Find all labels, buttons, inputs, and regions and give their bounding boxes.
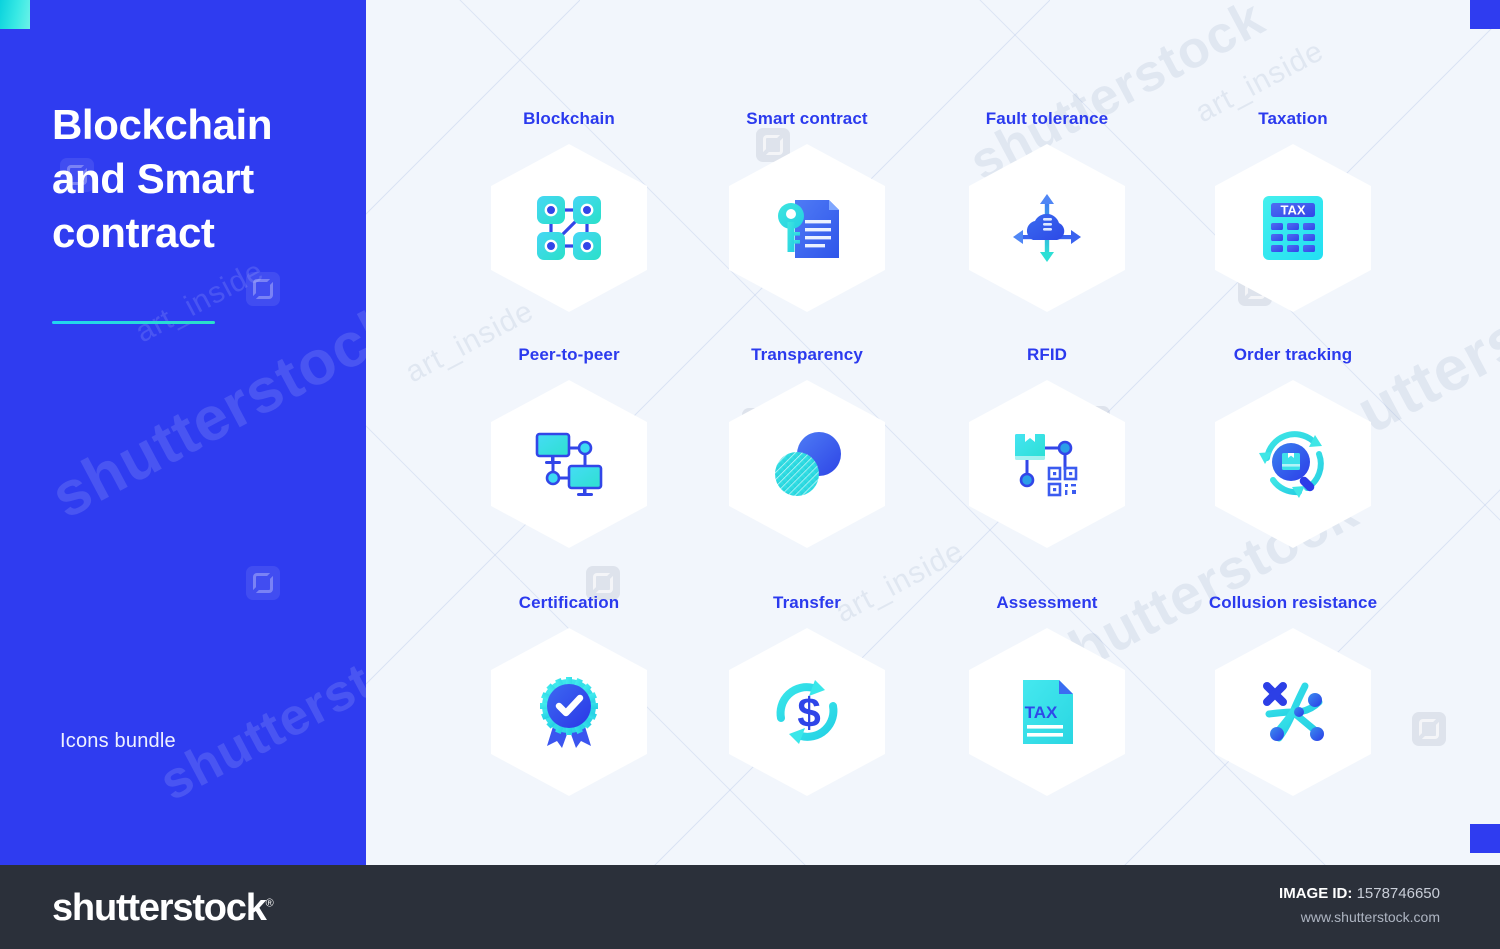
footer-bar: shutterstock® IMAGE ID: 1578746650 www.s…	[0, 865, 1500, 949]
svg-text:TAX: TAX	[1280, 203, 1305, 218]
hexagon-tile	[491, 628, 647, 796]
svg-text:$: $	[797, 689, 820, 736]
crossed-nodes-icon	[1253, 672, 1333, 752]
watermark-brand-text: shutterstock	[150, 608, 366, 813]
magnifier-box-cycle-icon	[1253, 424, 1333, 504]
watermark-logo-square	[246, 566, 280, 600]
hexagon-tile	[729, 380, 885, 548]
icon-label: Blockchain	[454, 108, 684, 130]
icon-card-transparency[interactable]: Transparency	[692, 344, 922, 548]
svg-text:TAX: TAX	[1025, 703, 1058, 722]
shutterstock-logo-text: shutterstock	[52, 887, 266, 929]
icon-label: Smart contract	[692, 108, 922, 130]
hexagon-tile	[729, 144, 885, 312]
image-id: IMAGE ID: 1578746650	[1279, 885, 1440, 902]
cloud-arrows-icon	[1007, 188, 1087, 268]
two-monitors-network-icon	[529, 424, 609, 504]
overlapping-circles-icon	[767, 424, 847, 504]
title-panel: shutterstock shutterstock art_inside Blo…	[0, 0, 366, 865]
icon-label: Fault tolerance	[932, 108, 1162, 130]
panel-subtitle: Icons bundle	[60, 730, 176, 753]
blockchain-nodes-icon	[529, 188, 609, 268]
hexagon-tile	[491, 380, 647, 548]
watermark-logo-square	[246, 272, 280, 306]
icon-label: Order tracking	[1178, 344, 1408, 366]
icon-card-order-tracking[interactable]: Order tracking	[1178, 344, 1408, 548]
hexagon-tile: $	[729, 628, 885, 796]
icon-card-assessment[interactable]: Assessment TAX	[932, 592, 1162, 796]
icon-card-transfer[interactable]: Transfer $	[692, 592, 922, 796]
icon-label: Certification	[454, 592, 684, 614]
poster-canvas: shutterstock shutterstock shutterstock a…	[0, 0, 1500, 949]
title-divider	[52, 321, 215, 324]
icon-card-smart-contract[interactable]: Smart contract	[692, 108, 922, 312]
shutterstock-logo: shutterstock®	[52, 887, 273, 930]
hexagon-tile	[969, 144, 1125, 312]
icon-label: Transfer	[692, 592, 922, 614]
hexagon-tile	[1215, 380, 1371, 548]
icon-card-collusion-resistance[interactable]: Collusion resistance	[1178, 592, 1408, 796]
image-id-value: 1578746650	[1357, 885, 1440, 902]
hexagon-tile	[1215, 628, 1371, 796]
icon-label: Transparency	[692, 344, 922, 366]
hexagon-tile: TAX	[1215, 144, 1371, 312]
icon-card-blockchain[interactable]: Blockchain	[454, 108, 684, 312]
watermark-brand-text: shutterstock	[40, 290, 366, 533]
hexagon-tile	[969, 380, 1125, 548]
footer-url[interactable]: www.shutterstock.com	[1301, 909, 1440, 925]
registered-mark: ®	[266, 897, 273, 909]
icon-card-rfid[interactable]: RFID	[932, 344, 1162, 548]
icon-label: Assessment	[932, 592, 1162, 614]
icon-card-peer-to-peer[interactable]: Peer-to-peer	[454, 344, 684, 548]
corner-accent-cyan	[0, 0, 30, 29]
icon-card-fault-tolerance[interactable]: Fault tolerance	[932, 108, 1162, 312]
hexagon-tile	[491, 144, 647, 312]
icon-label: Peer-to-peer	[454, 344, 684, 366]
icon-card-certification[interactable]: Certification	[454, 592, 684, 796]
tax-document-icon: TAX	[1007, 672, 1087, 752]
image-id-label: IMAGE ID:	[1279, 885, 1352, 902]
icon-label: Taxation	[1178, 108, 1408, 130]
hexagon-tile: TAX	[969, 628, 1125, 796]
dollar-refresh-arrows-icon: $	[767, 672, 847, 752]
award-ribbon-check-icon	[529, 672, 609, 752]
tax-calculator-icon: TAX	[1253, 188, 1333, 268]
icon-label: Collusion resistance	[1178, 592, 1408, 614]
page-title: Blockchain and Smart contract	[52, 98, 342, 260]
icon-grid: Blockchain	[366, 0, 1500, 865]
watermark-artist-text: art_inside	[130, 254, 270, 350]
icon-label: RFID	[932, 344, 1162, 366]
icon-card-taxation[interactable]: Taxation	[1178, 108, 1408, 312]
box-qrcode-icon	[1007, 424, 1087, 504]
key-document-icon	[767, 188, 847, 268]
